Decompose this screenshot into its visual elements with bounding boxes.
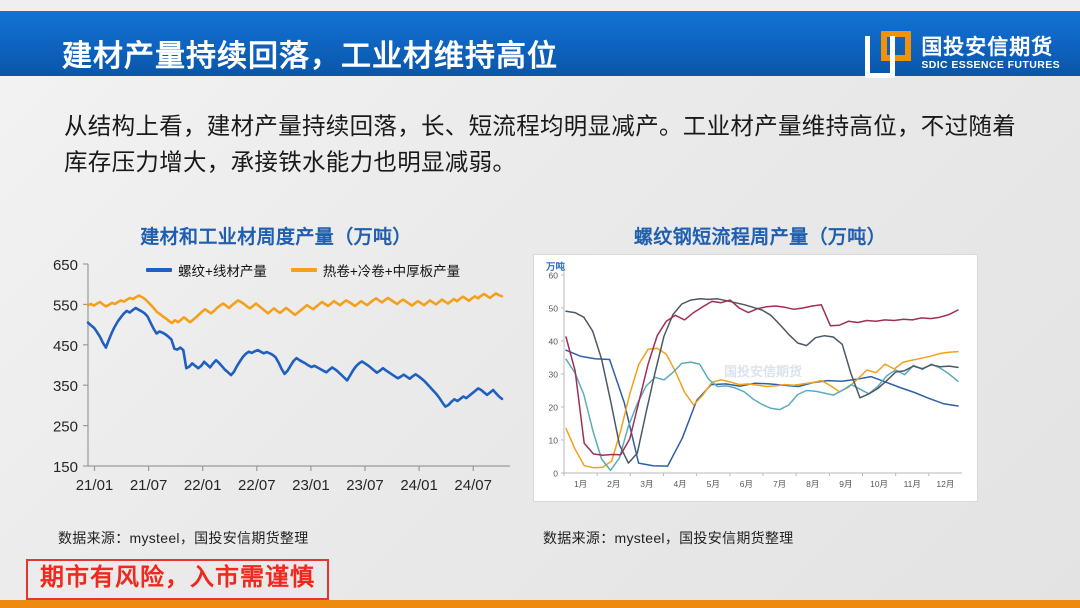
right-chart-title: 螺纹钢短流程周产量（万吨） xyxy=(525,222,995,249)
right-chart-plot: 万吨 01020304050601月2月3月4月5月6月7月8月9月10月11月… xyxy=(533,254,978,502)
legend-item-rebar-wire: 螺纹+线材产量 xyxy=(146,260,267,280)
logo-text: 国投安信期货 SDIC ESSENCE FUTURES xyxy=(921,37,1060,71)
left-chart-source: 数据来源：mysteel，国投安信期货整理 xyxy=(58,528,309,548)
svg-text:8月: 8月 xyxy=(806,479,819,489)
svg-text:4月: 4月 xyxy=(673,479,686,489)
svg-text:350: 350 xyxy=(53,378,78,395)
svg-text:12月: 12月 xyxy=(936,479,954,489)
svg-text:10: 10 xyxy=(549,436,559,446)
legend-label-flat-products: 热卷+冷卷+中厚板产量 xyxy=(323,260,460,280)
svg-text:国投安信期货: 国投安信期货 xyxy=(724,364,802,379)
svg-text:24/01: 24/01 xyxy=(400,477,438,494)
right-chart-unit-label: 万吨 xyxy=(546,259,565,273)
svg-text:23/07: 23/07 xyxy=(346,477,384,494)
body-paragraph: 从结构上看，建材产量持续回落，长、短流程均明显减产。工业材产量维持高位，不过随着… xyxy=(64,108,1029,181)
legend-swatch-rebar-wire xyxy=(146,268,172,272)
left-chart-svg: 15025035045055065021/0121/0722/0122/0723… xyxy=(36,254,516,504)
right-chart-svg: 01020304050601月2月3月4月5月6月7月8月9月10月11月12月… xyxy=(534,255,977,501)
svg-text:22/01: 22/01 xyxy=(184,477,222,494)
left-chart-plot: 15025035045055065021/0121/0722/0122/0723… xyxy=(36,254,516,504)
left-chart-block: 建材和工业材周度产量（万吨） 15025035045055065021/0121… xyxy=(36,222,516,522)
svg-text:23/01: 23/01 xyxy=(292,477,330,494)
logo-l-stem-icon xyxy=(865,36,870,56)
svg-text:21/01: 21/01 xyxy=(76,477,114,494)
right-chart-source: 数据来源：mysteel，国投安信期货整理 xyxy=(543,528,794,548)
footer-bar xyxy=(0,600,1080,608)
svg-text:50: 50 xyxy=(549,304,559,314)
header-band: 建材产量持续回落，工业材维持高位 国投安信期货 SDIC ESSENCE FUT… xyxy=(0,11,1080,76)
logo-english-name: SDIC ESSENCE FUTURES xyxy=(921,59,1060,71)
left-chart-legend: 螺纹+线材产量 热卷+冷卷+中厚板产量 xyxy=(146,260,460,280)
svg-text:2月: 2月 xyxy=(607,479,620,489)
svg-text:21/07: 21/07 xyxy=(130,477,168,494)
svg-text:40: 40 xyxy=(549,337,559,347)
svg-text:550: 550 xyxy=(53,297,78,314)
svg-text:11月: 11月 xyxy=(904,479,921,489)
svg-text:0: 0 xyxy=(553,469,558,479)
svg-text:150: 150 xyxy=(53,459,78,476)
svg-text:24/07: 24/07 xyxy=(454,477,492,494)
logo-chinese-name: 国投安信期货 xyxy=(921,37,1060,59)
page-title: 建材产量持续回落，工业材维持高位 xyxy=(62,31,558,75)
legend-swatch-flat-products xyxy=(291,268,317,272)
left-chart-title: 建材和工业材周度产量（万吨） xyxy=(36,222,516,249)
legend-item-flat-products: 热卷+冷卷+中厚板产量 xyxy=(291,260,460,280)
svg-text:450: 450 xyxy=(53,338,78,355)
svg-text:5月: 5月 xyxy=(707,479,720,489)
svg-text:3月: 3月 xyxy=(640,479,653,489)
svg-text:7月: 7月 xyxy=(773,479,786,489)
brand-logo: 国投安信期货 SDIC ESSENCE FUTURES xyxy=(865,28,1060,80)
svg-text:9月: 9月 xyxy=(839,479,852,489)
right-chart-block: 螺纹钢短流程周产量（万吨） 2024年2023年2022年2021年2020年 … xyxy=(525,222,995,522)
logo-mark-icon xyxy=(865,31,912,78)
top-strip xyxy=(0,0,1080,11)
svg-text:1月: 1月 xyxy=(574,479,587,489)
svg-text:30: 30 xyxy=(549,370,559,380)
svg-text:10月: 10月 xyxy=(870,479,888,489)
svg-text:650: 650 xyxy=(53,257,78,274)
svg-text:250: 250 xyxy=(53,419,78,436)
risk-disclaimer: 期市有风险，入市需谨慎 xyxy=(26,559,329,600)
svg-text:20: 20 xyxy=(549,403,559,413)
svg-text:6月: 6月 xyxy=(740,479,753,489)
legend-label-rebar-wire: 螺纹+线材产量 xyxy=(178,260,267,280)
slide-root: 建材产量持续回落，工业材维持高位 国投安信期货 SDIC ESSENCE FUT… xyxy=(0,0,1080,608)
svg-text:22/07: 22/07 xyxy=(238,477,276,494)
